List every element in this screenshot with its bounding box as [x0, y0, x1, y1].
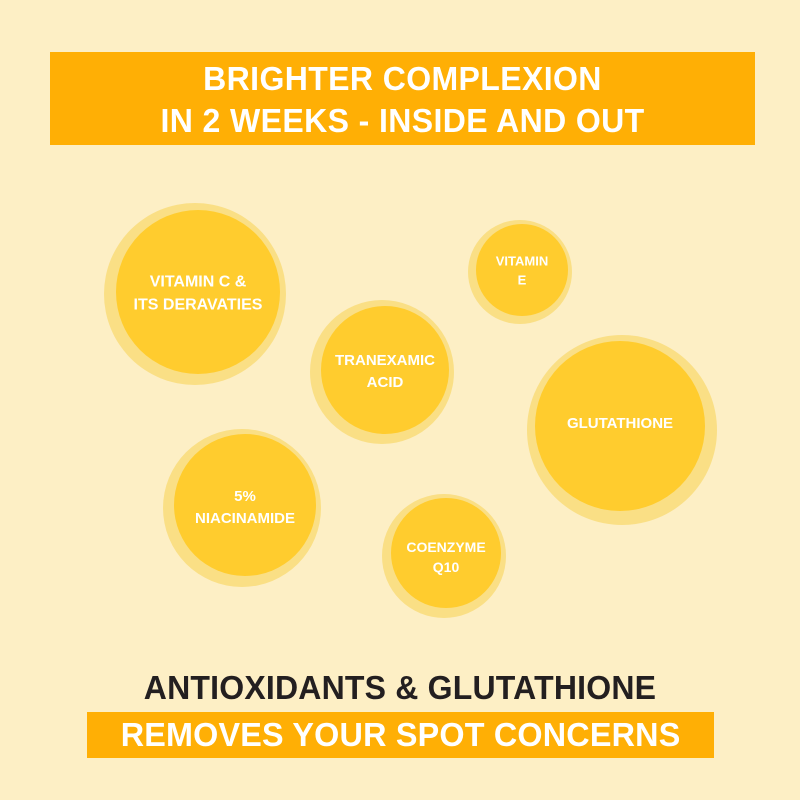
bubble-label-line: VITAMIN C & [150, 274, 247, 291]
bubble-label-glutathione: GLUTATHIONE [567, 415, 673, 432]
footer-line-1: ANTIOXIDANTS & GLUTATHIONE [12, 669, 788, 707]
bubble-diagram: VITAMIN C &ITS DERAVATIESVITAMINETRANEXA… [0, 160, 800, 650]
ingredient-bubble-glutathione[interactable]: GLUTATHIONE [527, 335, 717, 525]
footer-highlight-strip: REMOVES YOUR SPOT CONCERNS [87, 712, 714, 758]
footer-block: ANTIOXIDANTS & GLUTATHIONE REMOVES YOUR … [0, 655, 800, 775]
bubble-label-line: VITAMIN [496, 254, 548, 269]
footer-line-2: REMOVES YOUR SPOT CONCERNS [121, 718, 681, 751]
bubble-label-line: ITS DERAVATIES [134, 297, 263, 314]
header-line-1: BRIGHTER COMPLEXION [203, 58, 602, 99]
bubble-label-line: COENZYME [406, 539, 485, 555]
bubble-label-line: ACID [367, 374, 404, 391]
bubble-label-line: TRANEXAMIC [335, 352, 435, 369]
bubble-label-line: E [518, 273, 527, 288]
ingredient-bubble-niacinamide[interactable]: 5%NIACINAMIDE [163, 429, 321, 587]
poster-canvas: BRIGHTER COMPLEXION IN 2 WEEKS - INSIDE … [0, 0, 800, 800]
bubble-core-tranexamic-acid [321, 306, 449, 434]
bubble-core-vitamin-c [116, 210, 280, 374]
ingredient-bubble-tranexamic-acid[interactable]: TRANEXAMICACID [310, 300, 454, 444]
ingredient-bubble-coenzyme-q10[interactable]: COENZYMEQ10 [382, 494, 506, 618]
ingredient-bubble-field: VITAMIN C &ITS DERAVATIESVITAMINETRANEXA… [0, 160, 800, 650]
ingredient-bubble-vitamin-e[interactable]: VITAMINE [468, 220, 572, 324]
bubble-label-line: 5% [234, 488, 256, 505]
bubble-label-line: NIACINAMIDE [195, 510, 295, 527]
bubble-label-line: GLUTATHIONE [567, 415, 673, 432]
header-line-2: IN 2 WEEKS - INSIDE AND OUT [160, 100, 644, 141]
ingredient-bubble-vitamin-c[interactable]: VITAMIN C &ITS DERAVATIES [104, 203, 286, 385]
header-banner: BRIGHTER COMPLEXION IN 2 WEEKS - INSIDE … [50, 52, 755, 145]
bubble-label-line: Q10 [433, 559, 460, 575]
bubble-core-vitamin-e [476, 224, 568, 316]
